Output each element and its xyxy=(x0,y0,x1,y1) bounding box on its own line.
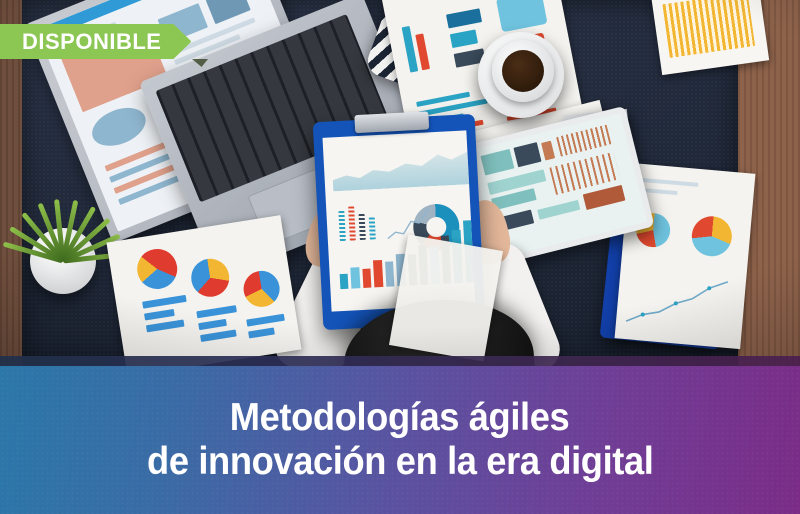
coffee-liquid xyxy=(502,50,544,92)
pie-chart-right-b xyxy=(690,215,733,258)
pie-chart-c xyxy=(241,268,282,309)
chart-paper-pies xyxy=(106,215,301,366)
promo-card: DISPONIBLE Metodologías ágiles de innova… xyxy=(0,0,800,514)
pie-chart-a xyxy=(134,246,180,292)
line-chart-right xyxy=(624,267,739,334)
area-chart xyxy=(331,144,469,191)
banner-top-strip xyxy=(0,356,800,366)
page-title-line-2: de innovación en la era digital xyxy=(147,440,653,484)
availability-badge[interactable]: DISPONIBLE xyxy=(0,24,191,59)
badge-ribbon-shape: DISPONIBLE xyxy=(0,24,191,59)
clipboard-clamp xyxy=(354,111,429,133)
badge-label: DISPONIBLE xyxy=(22,31,161,53)
chart-paper-left-lower xyxy=(389,235,503,362)
plant-pot xyxy=(30,228,96,294)
pie-chart-b xyxy=(188,256,231,299)
page-title-line-1: Metodologías ágiles xyxy=(230,396,570,440)
title-banner: Metodologías ágiles de innovación en la … xyxy=(0,366,800,514)
